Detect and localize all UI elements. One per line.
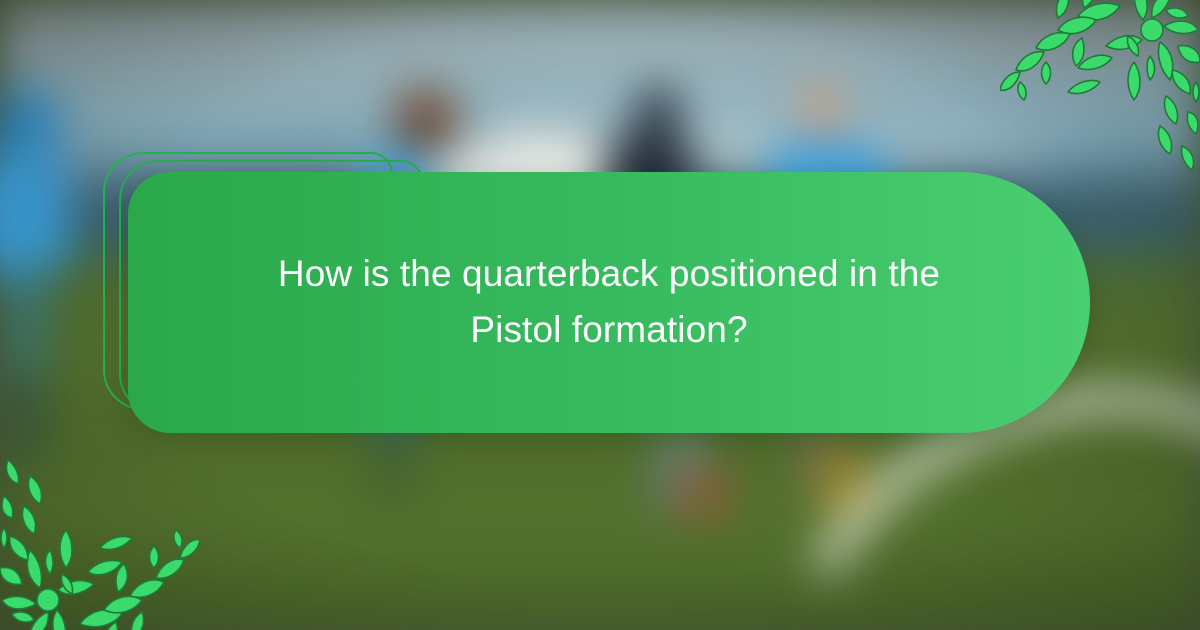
screenshot-stage: How is the quarterback positioned in the… xyxy=(0,0,1200,630)
question-card: How is the quarterback positioned in the… xyxy=(128,172,1090,433)
question-text: How is the quarterback positioned in the… xyxy=(249,246,969,359)
